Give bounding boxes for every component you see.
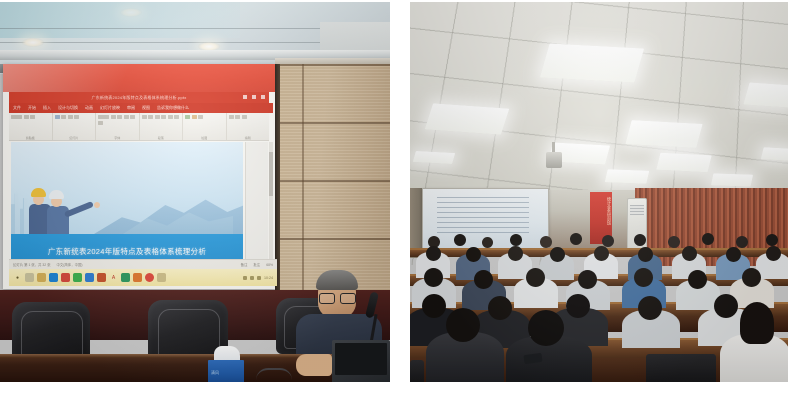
font-family-dropdown[interactable]	[98, 115, 109, 119]
font-color-icon[interactable]	[98, 121, 103, 125]
menu-item-slideshow[interactable]: 幻灯片放映	[100, 105, 120, 111]
audience-head	[528, 310, 564, 346]
ribbon-group-label: 幻灯片	[53, 136, 96, 140]
wall-panel-seam	[302, 64, 304, 292]
italic-icon[interactable]	[124, 115, 129, 119]
audience-head	[488, 296, 512, 320]
audience-head	[594, 246, 609, 261]
audience-head	[466, 247, 481, 262]
language-indicator[interactable]: 中文(简体，中国)	[57, 262, 83, 267]
menu-item-home[interactable]: 开始	[28, 105, 36, 111]
ribbon-group-slides[interactable]: 幻灯片	[53, 113, 97, 140]
right-photo: 统计业务培训班	[410, 2, 788, 382]
ceiling-panel-light	[761, 147, 788, 161]
cut-icon[interactable]	[24, 115, 29, 119]
window-controls[interactable]	[243, 95, 265, 99]
ceiling-projector	[546, 152, 562, 168]
ceiling-panel-light	[656, 153, 712, 173]
replace-icon[interactable]	[235, 115, 240, 119]
align-left-icon[interactable]	[155, 115, 160, 119]
audience-head	[446, 308, 480, 342]
audience-head	[714, 294, 738, 318]
search-icon[interactable]: ●	[13, 273, 22, 282]
powerpoint-icon[interactable]	[133, 273, 142, 282]
edge-icon[interactable]	[49, 273, 58, 282]
ribbon-group-label: 编辑	[227, 136, 270, 140]
align-center-icon[interactable]	[161, 115, 166, 119]
audience-head	[726, 247, 741, 262]
find-icon[interactable]	[229, 115, 234, 119]
audience-head	[570, 233, 582, 245]
hardhat-icon	[49, 190, 64, 199]
menu-item-review[interactable]: 审阅	[127, 105, 135, 111]
menu-item-design[interactable]: 设计与切换	[58, 105, 78, 111]
windows-taskbar[interactable]: ● A 10:	[9, 269, 277, 286]
layout-icon[interactable]	[61, 115, 66, 119]
projection-screen: 广东新统表2024年版特点及表格体系梳理分析.pptx 文件 开始 插入 设计与…	[3, 64, 275, 289]
section-icon[interactable]	[74, 115, 79, 119]
ribbon-group-clipboard[interactable]: 剪贴板	[9, 113, 53, 140]
battery-icon[interactable]	[257, 276, 261, 280]
audience-head	[426, 246, 441, 261]
audience-head	[638, 247, 653, 262]
audience-head	[422, 294, 446, 318]
reset-icon[interactable]	[68, 115, 73, 119]
audience-head	[668, 236, 680, 248]
screenshot-root: 广东新统表2024年版特点及表格体系梳理分析.pptx 文件 开始 插入 设计与…	[0, 0, 800, 400]
word-icon[interactable]: A	[109, 273, 118, 282]
powerpoint-title-bar: 广东新统表2024年版特点及表格体系梳理分析.pptx	[9, 92, 269, 103]
arrange-icon[interactable]	[192, 115, 197, 119]
presenter-arm	[296, 354, 332, 376]
presenter-hair	[316, 270, 358, 290]
screen-surface: 广东新统表2024年版特点及表格体系梳理分析.pptx 文件 开始 插入 设计与…	[3, 92, 275, 289]
cartoon-engineer-white-helmet	[45, 186, 105, 234]
system-tray[interactable]: 10:24	[243, 276, 273, 280]
ribbon-group-editing[interactable]: 编辑	[227, 113, 270, 140]
wechat-icon[interactable]	[73, 273, 82, 282]
downlight-icon	[22, 38, 44, 47]
projected-document-content	[437, 197, 529, 235]
powerpoint-ribbon[interactable]: 剪贴板 幻灯片	[9, 113, 269, 141]
copy-icon[interactable]	[30, 115, 35, 119]
ceiling-panel-light	[625, 120, 702, 148]
mail-icon[interactable]	[85, 273, 94, 282]
glasses-left-lens	[319, 293, 335, 304]
right-ceiling	[410, 2, 788, 207]
audience-head	[566, 294, 590, 318]
taskbar-clock[interactable]: 10:24	[264, 276, 273, 280]
audience-head	[508, 246, 523, 261]
new-slide-icon[interactable]	[55, 115, 60, 119]
engineer-hand	[94, 202, 100, 208]
volume-icon[interactable]	[250, 276, 254, 280]
tissue-box: 清风	[208, 360, 244, 382]
powerpoint-document-title: 广东新统表2024年版特点及表格体系梳理分析.pptx	[92, 95, 187, 101]
task-view-icon[interactable]	[25, 273, 34, 282]
wall-dark-edge	[275, 64, 280, 292]
minimize-icon[interactable]	[243, 95, 247, 99]
audience-head	[766, 234, 778, 246]
menu-item-animation[interactable]: 动画	[85, 105, 93, 111]
presenter-laptop	[332, 340, 390, 382]
chrome-icon[interactable]	[61, 273, 70, 282]
bullets-icon[interactable]	[142, 115, 147, 119]
audience-head	[482, 237, 493, 248]
ribbon-group-label: 剪贴板	[9, 136, 52, 140]
downlight-icon	[120, 8, 142, 17]
notes-button[interactable]: 备注	[241, 262, 248, 267]
audience-head	[766, 246, 781, 261]
tissue-box-label: 清风	[211, 370, 219, 376]
underline-icon[interactable]	[130, 115, 135, 119]
slide-title: 广东新统表2024年版特点及表格体系梳理分析	[11, 246, 243, 257]
ribbon-group-font[interactable]: 字体	[96, 113, 140, 140]
quick-styles-icon[interactable]	[198, 115, 203, 119]
menu-item-tellme[interactable]: 告诉我你想做什么	[157, 105, 189, 111]
line-spacing-icon[interactable]	[168, 115, 173, 119]
audience-head	[454, 234, 466, 246]
seat-back	[646, 354, 716, 382]
audience-head	[634, 234, 646, 246]
spare-eyeglasses-icon	[256, 368, 292, 380]
audience-head	[526, 268, 545, 287]
seat-back	[410, 360, 424, 382]
glasses-right-lens	[340, 293, 356, 304]
folder-icon[interactable]	[157, 273, 166, 282]
screen-top-glow	[3, 64, 275, 94]
excel-icon[interactable]	[121, 273, 130, 282]
slide-indicator: 幻灯片 第 1 张，共 32 张	[13, 262, 51, 267]
air-conditioner-vent	[630, 205, 644, 215]
audience-head	[742, 268, 761, 287]
audience-head	[474, 270, 493, 289]
audience-head	[510, 234, 522, 246]
hardhat-icon	[31, 188, 46, 197]
network-icon[interactable]	[243, 276, 247, 280]
menu-item-view[interactable]: 视图	[142, 105, 150, 111]
audience-head	[638, 296, 662, 320]
ceiling-panel-light	[425, 103, 510, 134]
zoom-level[interactable]: 68%	[266, 263, 273, 267]
numbering-icon[interactable]	[148, 115, 153, 119]
ribbon-group-label: 字体	[96, 136, 139, 140]
laptop-screen	[335, 343, 387, 375]
audience-head	[682, 246, 697, 261]
menu-item-insert[interactable]: 插入	[43, 105, 51, 111]
ceiling-panel-light	[743, 82, 788, 107]
audience-head	[424, 268, 443, 287]
ceiling-panel-light	[711, 173, 753, 186]
menu-item-file[interactable]: 文件	[13, 105, 21, 111]
audience-head	[688, 270, 707, 289]
engineer-pointing-arm	[64, 201, 94, 218]
ribbon-group-label: 绘图	[183, 136, 226, 140]
ribbon-group-label: 段落	[140, 136, 183, 140]
ceiling-light-tint	[0, 2, 240, 38]
ceiling-panel-light	[605, 169, 650, 183]
audience-head	[602, 235, 614, 247]
close-icon[interactable]	[261, 95, 265, 99]
ceiling-panel-light	[540, 43, 644, 82]
eyeglasses-icon	[319, 293, 356, 302]
audience-head	[736, 236, 748, 248]
dingtalk-icon[interactable]	[145, 273, 154, 282]
powerpoint-status-bar: 幻灯片 第 1 张，共 32 张 中文(简体，中国) 备注 批注 68%	[9, 259, 277, 269]
paste-icon[interactable]	[11, 115, 22, 119]
file-explorer-icon[interactable]	[37, 273, 46, 282]
audience-head	[578, 270, 597, 289]
audience-head	[540, 236, 552, 248]
left-photo: 广东新统表2024年版特点及表格体系梳理分析.pptx 文件 开始 插入 设计与…	[0, 2, 390, 382]
ceiling-panel-light	[413, 151, 456, 164]
select-icon[interactable]	[242, 115, 247, 119]
audience-head	[740, 302, 774, 344]
scrollbar-thumb[interactable]	[269, 152, 273, 196]
audience-head	[550, 247, 565, 262]
office-icon[interactable]	[97, 273, 106, 282]
shapes-icon[interactable]	[185, 115, 190, 119]
comments-button[interactable]: 批注	[253, 262, 260, 267]
banner-text: 统计业务培训班	[590, 197, 612, 225]
font-size-dropdown[interactable]	[111, 115, 116, 119]
ribbon-group-paragraph[interactable]: 段落	[140, 113, 184, 140]
audience-head	[702, 233, 714, 245]
powerpoint-menu-bar[interactable]: 文件 开始 插入 设计与切换 动画 幻灯片放映 审阅 视图 告诉我你想做什么	[9, 103, 273, 113]
ribbon-group-drawing[interactable]: 绘图	[183, 113, 227, 140]
bold-icon[interactable]	[117, 115, 122, 119]
acoustic-wall-panels	[275, 64, 390, 292]
maximize-icon[interactable]	[252, 95, 256, 99]
columns-icon[interactable]	[174, 115, 179, 119]
audience-head	[634, 268, 653, 287]
